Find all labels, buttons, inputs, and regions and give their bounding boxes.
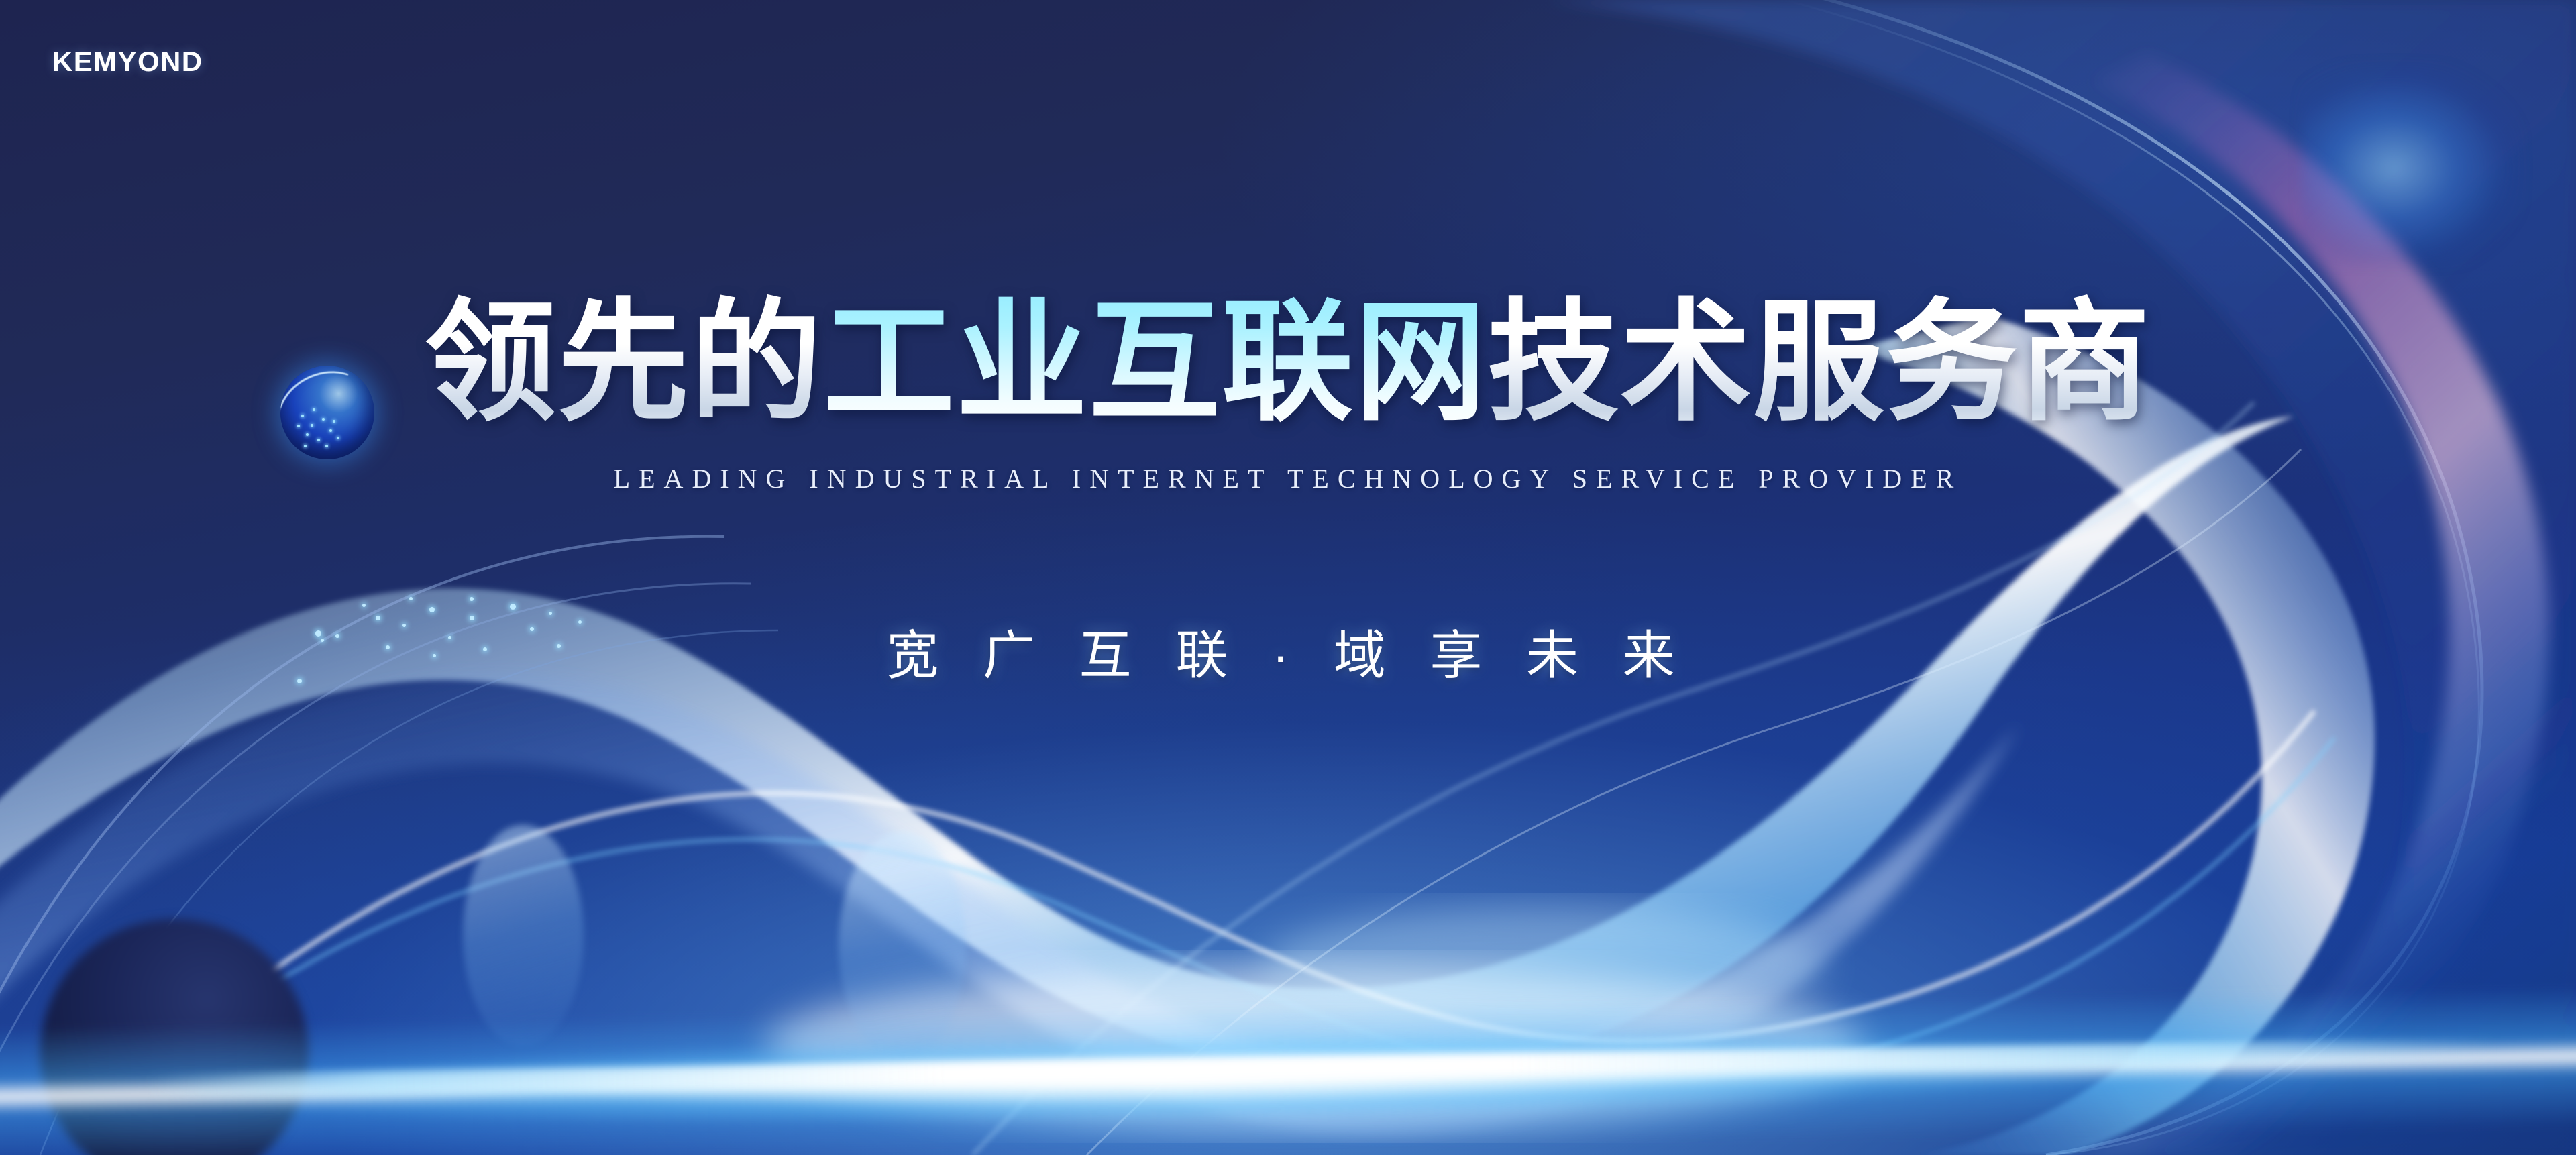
light-streak-core-icon xyxy=(148,1038,2495,1098)
particle-dots-icon xyxy=(0,0,2576,1155)
hero-banner: KEMYOND 领先的工业互联网技术服务商 LEADING INDUSTRIAL… xyxy=(0,0,2576,1155)
glow-orb-icon xyxy=(2301,64,2522,265)
headline-segment-3: 技术服务商 xyxy=(1487,289,2151,436)
headline-segment-2: 工业互联网 xyxy=(823,289,1487,436)
pale-ellipse-icon-2 xyxy=(839,832,966,1060)
tagline: 宽 广 互 联 · 域 享 未 来 xyxy=(0,614,2576,689)
dark-sphere-icon xyxy=(40,919,309,1155)
headline-segment-1: 领先的 xyxy=(425,289,823,436)
page-title: 领先的工业互联网技术服务商 xyxy=(0,292,2576,434)
headline-subtitle: LEADING INDUSTRIAL INTERNET TECHNOLOGY S… xyxy=(0,463,2576,494)
background-artwork xyxy=(0,0,2576,1155)
light-streak-icon xyxy=(0,985,2576,1155)
pale-ellipse-icon-1 xyxy=(463,825,584,1046)
ribbon-svg xyxy=(0,0,2576,1155)
brand-logo[interactable]: KEMYOND xyxy=(52,46,203,78)
